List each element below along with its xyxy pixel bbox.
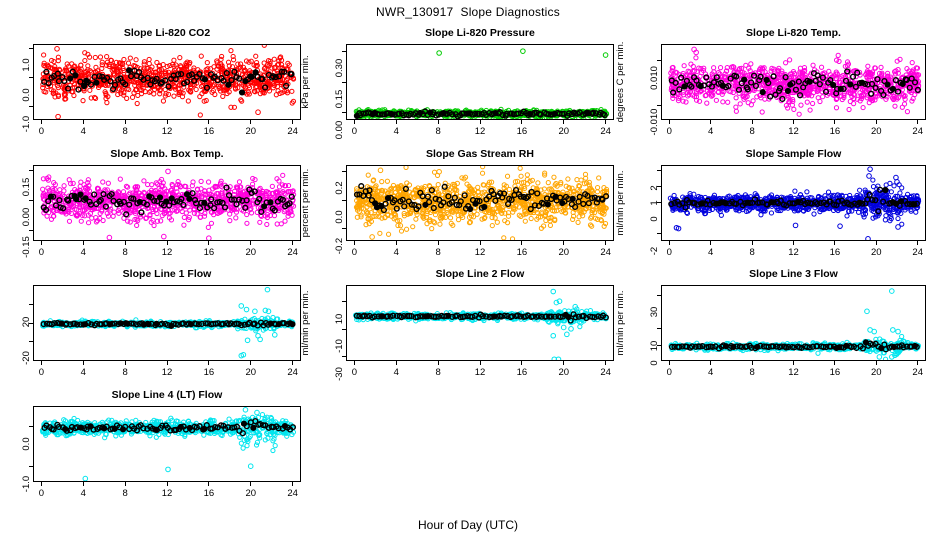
x-tick-label: 8 (426, 126, 450, 137)
x-tick-label: 16 (197, 367, 221, 378)
x-tick-label: 16 (823, 247, 847, 258)
x-tick-label: 24 (594, 367, 618, 378)
panel-title-line3-flow: Slope Line 3 Flow (661, 268, 926, 280)
y-tick-label: 30 (649, 295, 661, 329)
y-tick-label: 20 (21, 305, 33, 339)
x-tick-label: 20 (552, 247, 576, 258)
x-tick-mark (292, 241, 293, 245)
plot-area-sample-flow (661, 165, 926, 241)
x-tick-label: 20 (239, 367, 263, 378)
x-tick-label: 24 (281, 247, 305, 258)
x-tick-mark (250, 241, 251, 245)
y-axis-label-gas-stream-rh: percent per min. (300, 169, 311, 238)
x-tick-mark (125, 241, 126, 245)
x-tick-label: 0 (342, 367, 366, 378)
x-tick-mark (669, 120, 670, 124)
x-tick-mark (605, 361, 606, 365)
x-tick-mark (605, 120, 606, 124)
y-tick-label: 10 (649, 329, 661, 363)
x-tick-mark (167, 482, 168, 486)
x-tick-label: 24 (906, 247, 930, 258)
x-tick-label: 20 (239, 126, 263, 137)
x-tick-mark (438, 241, 439, 245)
x-tick-mark (292, 120, 293, 124)
y-tick-label: 0.15 (21, 170, 33, 204)
panel-line4-lt-flow: Slope Line 4 (LT) Flow-1.00.0ml/min per … (0, 389, 313, 514)
x-tick-mark (521, 361, 522, 365)
x-tick-label: 24 (594, 126, 618, 137)
panel-title-li820-pressure: Slope Li-820 Pressure (346, 27, 614, 39)
x-tick-label: 4 (384, 247, 408, 258)
x-tick-mark (834, 120, 835, 124)
x-tick-label: 16 (823, 126, 847, 137)
plot-area-li820-pressure (346, 44, 614, 120)
x-tick-label: 24 (281, 367, 305, 378)
y-tick-label: 0.0 (21, 427, 33, 461)
panel-title-gas-stream-rh: Slope Gas Stream RH (346, 148, 614, 160)
x-tick-mark (917, 120, 918, 124)
panel-title-li820-temp: Slope Li-820 Temp. (661, 27, 926, 39)
x-tick-mark (250, 361, 251, 365)
x-tick-mark (208, 361, 209, 365)
x-tick-label: 24 (281, 488, 305, 499)
x-tick-mark (250, 120, 251, 124)
x-tick-mark (125, 482, 126, 486)
x-tick-mark (438, 361, 439, 365)
x-tick-label: 16 (197, 488, 221, 499)
x-tick-mark (250, 482, 251, 486)
x-tick-label: 8 (740, 247, 764, 258)
y-tick-label: 1.0 (21, 48, 33, 82)
x-tick-mark (354, 241, 355, 245)
x-tick-label: 8 (113, 488, 137, 499)
x-tick-mark (521, 120, 522, 124)
x-tick-mark (793, 120, 794, 124)
x-tick-mark (41, 241, 42, 245)
x-tick-mark (396, 241, 397, 245)
x-tick-mark (480, 241, 481, 245)
scatter-points-sample-flow (662, 166, 926, 241)
x-tick-mark (605, 241, 606, 245)
x-tick-label: 16 (197, 126, 221, 137)
x-tick-mark (793, 241, 794, 245)
scatter-points-line4-lt-flow (34, 407, 301, 482)
x-tick-mark (125, 361, 126, 365)
x-tick-mark (752, 120, 753, 124)
x-tick-label: 24 (281, 126, 305, 137)
x-tick-label: 12 (782, 247, 806, 258)
panel-li820-co2: Slope Li-820 CO2-1.00.01.0Licor ppm per … (0, 27, 313, 152)
x-tick-label: 20 (552, 367, 576, 378)
x-tick-mark (41, 482, 42, 486)
x-tick-mark (438, 120, 439, 124)
scatter-points-gas-stream-rh (347, 166, 614, 241)
x-tick-mark (208, 241, 209, 245)
x-axis-label: Hour of Day (UTC) (0, 518, 936, 532)
x-tick-mark (521, 241, 522, 245)
y-tick-label: 0.00 (21, 200, 33, 234)
x-tick-label: 8 (740, 126, 764, 137)
x-tick-mark (917, 241, 918, 245)
x-tick-mark (41, 120, 42, 124)
x-tick-label: 0 (657, 367, 681, 378)
panel-title-amb-box-temp: Slope Amb. Box Temp. (33, 148, 301, 160)
plot-area-li820-temp (661, 44, 926, 120)
x-tick-label: 0 (29, 247, 53, 258)
x-tick-label: 0 (657, 126, 681, 137)
y-axis-label-li820-temp: degrees C per min. (615, 42, 626, 123)
x-tick-label: 4 (71, 488, 95, 499)
y-axis-label-line3-flow: ml/min per min. (615, 291, 626, 356)
x-tick-mark (669, 361, 670, 365)
x-tick-mark (125, 120, 126, 124)
x-tick-label: 20 (864, 126, 888, 137)
scatter-points-line3-flow (662, 286, 926, 361)
x-tick-mark (292, 361, 293, 365)
x-tick-label: 20 (239, 488, 263, 499)
x-tick-label: 4 (699, 126, 723, 137)
x-tick-label: 24 (594, 247, 618, 258)
x-tick-mark (876, 120, 877, 124)
x-tick-label: 24 (906, 126, 930, 137)
y-tick-label: 0.2 (334, 171, 346, 205)
x-tick-mark (292, 482, 293, 486)
x-tick-label: 0 (342, 247, 366, 258)
x-tick-mark (710, 241, 711, 245)
page-title: NWR_130917 Slope Diagnostics (0, 5, 936, 19)
panel-title-sample-flow: Slope Sample Flow (661, 148, 926, 160)
x-tick-mark (563, 241, 564, 245)
panel-title-li820-co2: Slope Li-820 CO2 (33, 27, 301, 39)
plot-area-amb-box-temp (33, 165, 301, 241)
x-tick-label: 12 (782, 367, 806, 378)
plot-area-line1-flow (33, 285, 301, 361)
x-tick-mark (834, 241, 835, 245)
panel-sample-flow: Slope Sample Flow-2012ml/min per min.048… (626, 148, 936, 273)
plot-area-line3-flow (661, 285, 926, 361)
x-tick-mark (563, 361, 564, 365)
x-tick-mark (563, 120, 564, 124)
y-tick-label: 2 (649, 171, 661, 205)
x-tick-mark (710, 120, 711, 124)
x-tick-label: 12 (468, 367, 492, 378)
x-tick-label: 8 (113, 367, 137, 378)
y-axis-label-line2-flow: ml/min per min. (300, 291, 311, 356)
x-tick-label: 8 (426, 247, 450, 258)
x-tick-label: 0 (29, 126, 53, 137)
scatter-points-amb-box-temp (34, 166, 301, 241)
x-tick-label: 8 (113, 247, 137, 258)
x-tick-mark (876, 361, 877, 365)
x-tick-label: 0 (29, 367, 53, 378)
panel-title-line2-flow: Slope Line 2 Flow (346, 268, 614, 280)
x-tick-label: 8 (740, 367, 764, 378)
x-tick-mark (669, 241, 670, 245)
x-tick-mark (208, 120, 209, 124)
x-tick-label: 12 (155, 367, 179, 378)
x-tick-mark (480, 120, 481, 124)
x-tick-label: 12 (155, 126, 179, 137)
x-tick-mark (396, 120, 397, 124)
x-tick-label: 16 (510, 126, 534, 137)
x-tick-mark (793, 361, 794, 365)
x-tick-mark (41, 361, 42, 365)
panel-li820-temp: Slope Li-820 Temp.-0.0100.010degrees C p… (626, 27, 936, 152)
panel-title-line4-lt-flow: Slope Line 4 (LT) Flow (33, 389, 301, 401)
panel-gas-stream-rh: Slope Gas Stream RH-0.20.00.2percent per… (313, 148, 626, 273)
x-tick-label: 16 (510, 367, 534, 378)
plot-area-line2-flow (346, 285, 614, 361)
scatter-points-line1-flow (34, 286, 301, 361)
x-tick-mark (354, 361, 355, 365)
y-tick-label: 0.15 (334, 82, 346, 116)
scatter-points-li820-temp (662, 45, 926, 120)
x-tick-mark (354, 120, 355, 124)
x-tick-mark (752, 241, 753, 245)
y-tick-label: 0.0 (21, 78, 33, 112)
x-tick-label: 12 (468, 247, 492, 258)
x-tick-mark (917, 361, 918, 365)
x-tick-label: 4 (384, 367, 408, 378)
x-tick-mark (208, 482, 209, 486)
x-tick-label: 4 (699, 367, 723, 378)
x-tick-label: 12 (155, 247, 179, 258)
x-tick-label: 0 (29, 488, 53, 499)
x-tick-label: 16 (823, 367, 847, 378)
panel-amb-box-temp: Slope Amb. Box Temp.-0.150.000.15degrees… (0, 148, 313, 273)
y-tick-label: 0.010 (649, 61, 661, 95)
x-tick-mark (167, 361, 168, 365)
x-tick-label: 20 (864, 367, 888, 378)
x-tick-mark (167, 241, 168, 245)
x-tick-mark (167, 120, 168, 124)
scatter-points-li820-pressure (347, 45, 614, 120)
x-tick-label: 20 (864, 247, 888, 258)
scatter-points-li820-co2 (34, 45, 301, 120)
panel-title-line1-flow: Slope Line 1 Flow (33, 268, 301, 280)
x-tick-mark (83, 361, 84, 365)
plot-area-line4-lt-flow (33, 406, 301, 482)
x-tick-mark (710, 361, 711, 365)
x-tick-label: 0 (657, 247, 681, 258)
x-tick-label: 20 (239, 247, 263, 258)
x-tick-label: 4 (71, 247, 95, 258)
y-tick-label: 0.30 (334, 51, 346, 85)
x-tick-mark (83, 482, 84, 486)
y-tick-label: 10 (334, 302, 346, 336)
x-tick-label: 16 (510, 247, 534, 258)
plot-area-gas-stream-rh (346, 165, 614, 241)
panel-line3-flow: Slope Line 3 Flow01030ml/min per min.048… (626, 268, 936, 393)
x-tick-label: 4 (699, 247, 723, 258)
x-tick-label: 4 (71, 367, 95, 378)
panel-li820-pressure: Slope Li-820 Pressure0.000.150.30kPa per… (313, 27, 626, 152)
x-tick-label: 8 (113, 126, 137, 137)
x-tick-mark (752, 361, 753, 365)
plot-area-li820-co2 (33, 44, 301, 120)
x-tick-label: 12 (155, 488, 179, 499)
panel-line1-flow: Slope Line 1 Flow-2020ml/min per min.048… (0, 268, 313, 393)
x-tick-mark (83, 241, 84, 245)
y-tick-label: 0.0 (334, 200, 346, 234)
x-tick-label: 12 (468, 126, 492, 137)
x-tick-mark (480, 361, 481, 365)
x-tick-mark (83, 120, 84, 124)
x-tick-mark (876, 241, 877, 245)
x-tick-label: 0 (342, 126, 366, 137)
x-tick-label: 4 (384, 126, 408, 137)
x-tick-label: 24 (906, 367, 930, 378)
x-tick-label: 12 (782, 126, 806, 137)
x-tick-label: 4 (71, 126, 95, 137)
y-axis-label-sample-flow: ml/min per min. (615, 171, 626, 236)
scatter-points-line2-flow (347, 286, 614, 361)
x-tick-label: 20 (552, 126, 576, 137)
x-tick-mark (396, 361, 397, 365)
x-tick-mark (834, 361, 835, 365)
x-tick-label: 8 (426, 367, 450, 378)
panel-line2-flow: Slope Line 2 Flow-30-1010ml/min per min.… (313, 268, 626, 393)
x-tick-label: 16 (197, 247, 221, 258)
y-axis-label-li820-pressure: kPa per min. (300, 55, 311, 108)
